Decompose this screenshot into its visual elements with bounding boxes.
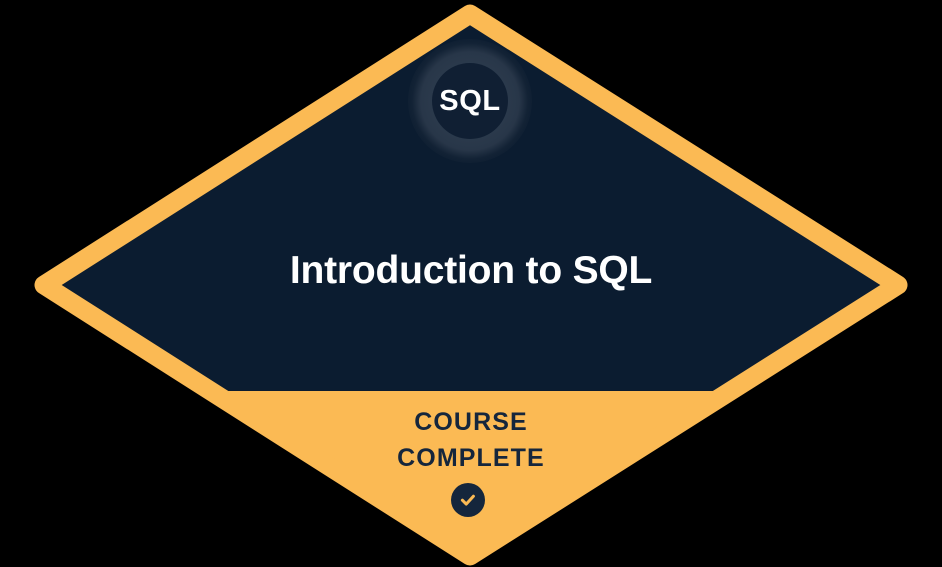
sql-logo: SQL [408,39,532,163]
course-completion-badge: SQL Introduction to SQL COURSE COMPLETE [0,0,942,567]
sql-logo-label: SQL [439,87,500,116]
course-status: COURSE COMPLETE [221,404,721,476]
status-line-one: COURSE [221,404,721,440]
status-line-two: COMPLETE [221,440,721,476]
check-circle-icon [451,483,485,517]
course-title: Introduction to SQL [60,244,882,298]
